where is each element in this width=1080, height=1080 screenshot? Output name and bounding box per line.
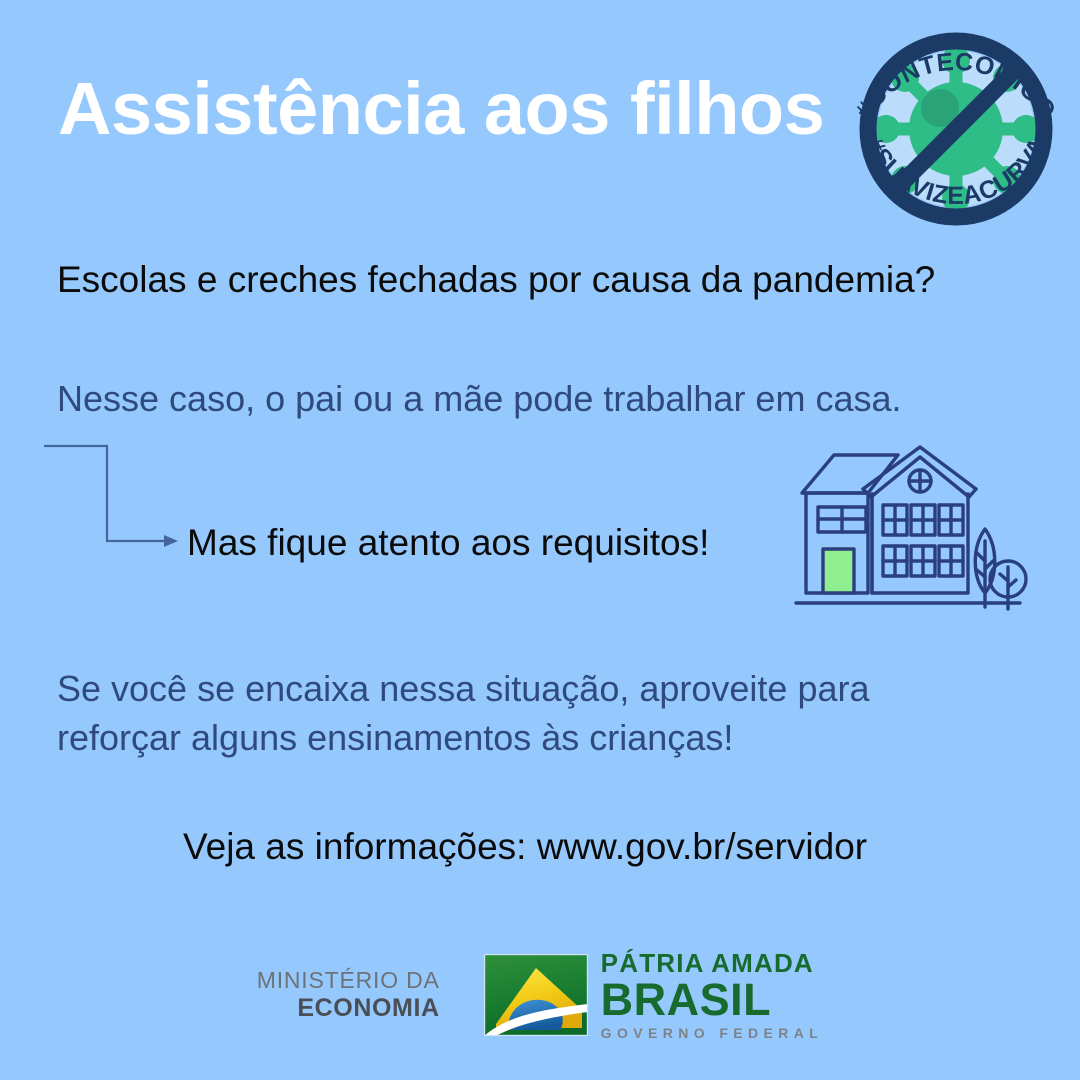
brasil-wordmark: PÁTRIA AMADA BRASIL GOVERNO FEDERAL xyxy=(601,950,824,1040)
poster-canvas: #CONTECOMIGO #SUAVIZEACURVA Assistência … xyxy=(0,0,1080,1080)
house-illustration-icon xyxy=(786,437,1034,621)
advice-line-2: reforçar alguns ensinamentos às crianças… xyxy=(57,714,977,763)
footer: MINISTÉRIO DA ECONOMIA xyxy=(0,940,1080,1050)
ministry-line-2: ECONOMIA xyxy=(257,994,440,1022)
question-text: Escolas e creches fechadas por causa da … xyxy=(57,258,935,302)
campaign-badge: #CONTECOMIGO #SUAVIZEACURVA xyxy=(832,2,1080,252)
ministry-line-1: MINISTÉRIO DA xyxy=(257,968,440,994)
advice-text: Se você se encaixa nessa situação, aprov… xyxy=(57,665,977,763)
answer-text: Nesse caso, o pai ou a mãe pode trabalha… xyxy=(57,378,902,420)
patria-amada-text: PÁTRIA AMADA xyxy=(601,950,824,976)
page-title: Assistência aos filhos xyxy=(58,72,824,146)
info-url-text: Veja as informações: www.gov.br/servidor xyxy=(183,825,867,869)
advice-line-1: Se você se encaixa nessa situação, aprov… xyxy=(57,665,977,714)
governo-federal-text: GOVERNO FEDERAL xyxy=(601,1026,824,1040)
brasil-flag-emblem xyxy=(484,954,588,1036)
attention-text: Mas fique atento aos requisitos! xyxy=(187,521,709,565)
ministry-logo: MINISTÉRIO DA ECONOMIA xyxy=(257,968,440,1022)
brasil-logo: PÁTRIA AMADA BRASIL GOVERNO FEDERAL xyxy=(484,950,824,1040)
brasil-text: BRASIL xyxy=(601,977,824,1022)
